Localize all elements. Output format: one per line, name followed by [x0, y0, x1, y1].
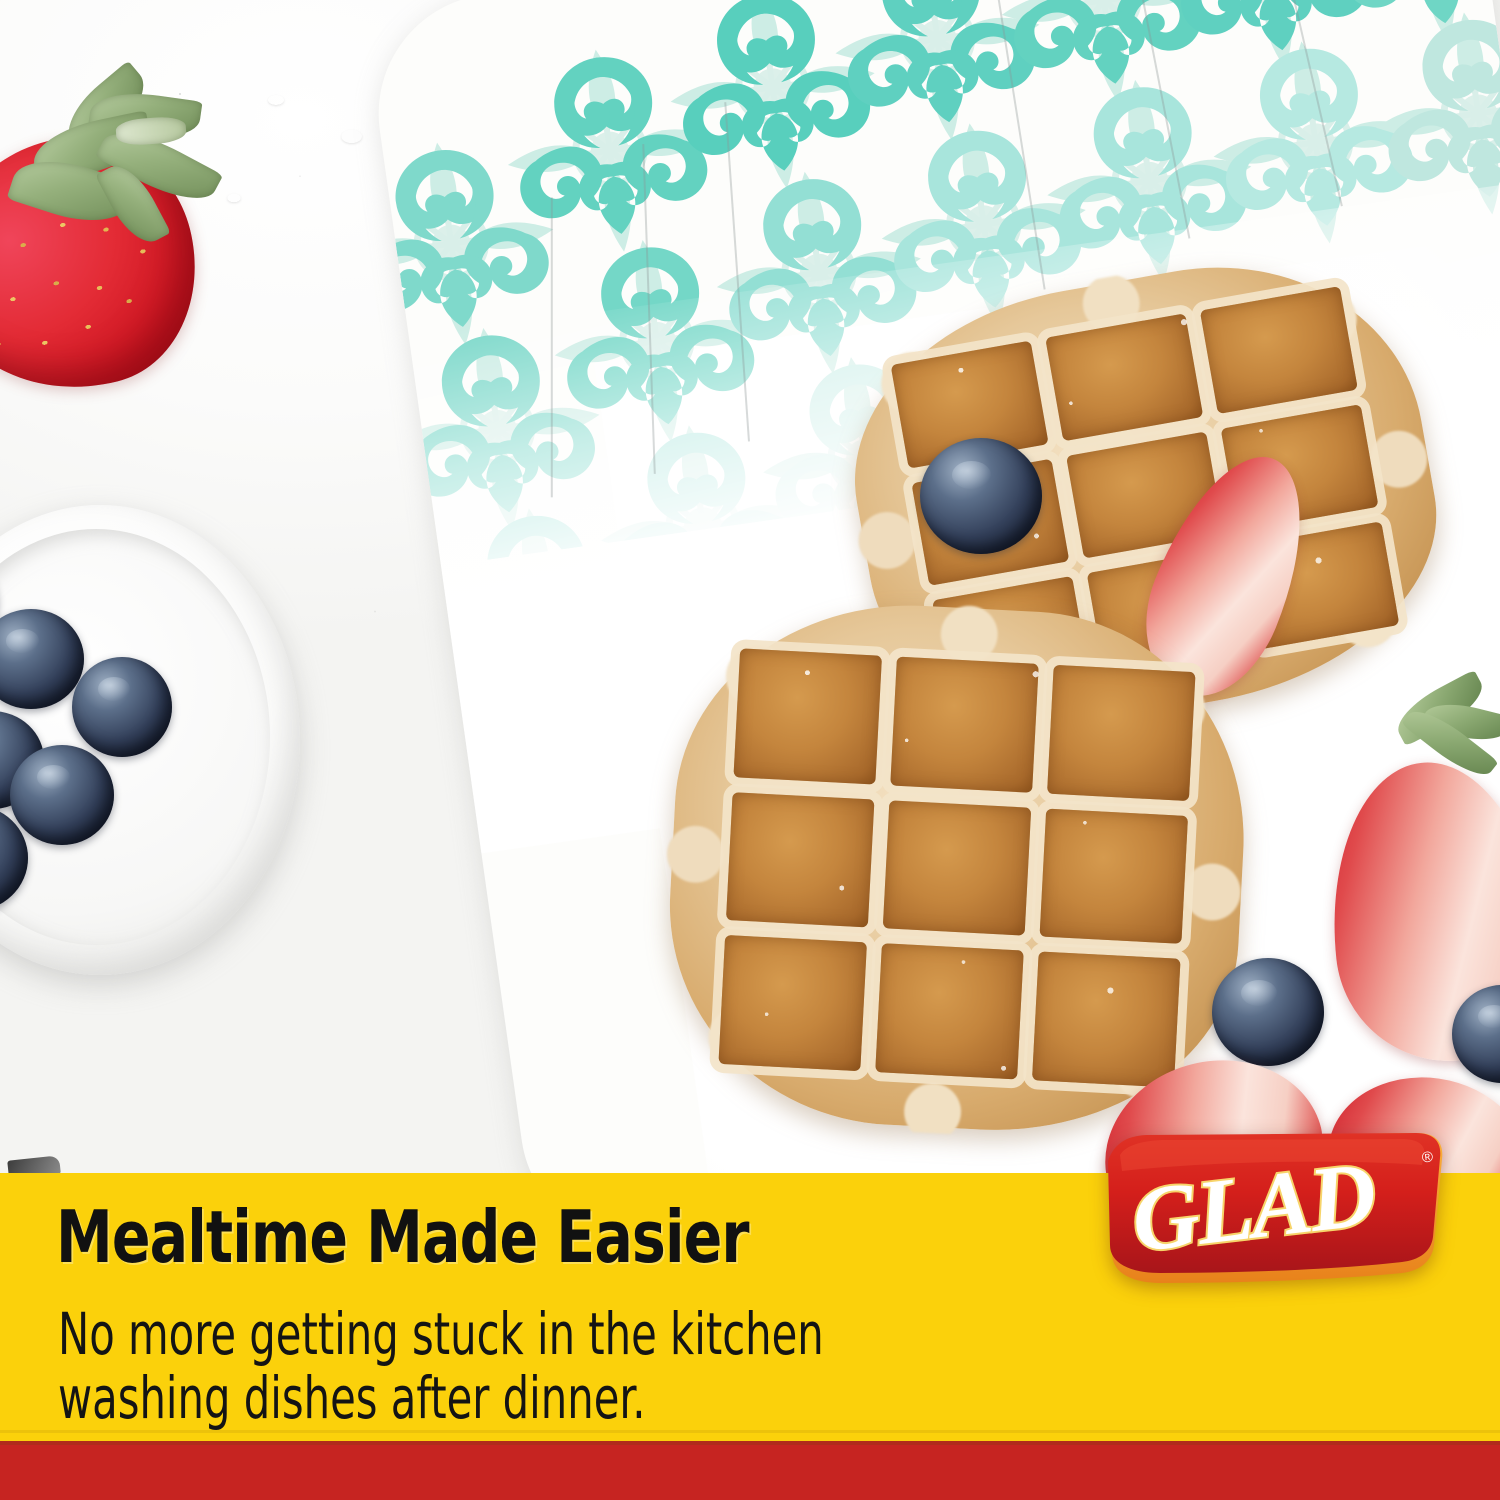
footer-bar	[0, 1441, 1500, 1500]
hero-photo	[0, 0, 1500, 1176]
blueberry	[10, 745, 114, 845]
glad-logo: GLAD ®	[1102, 1133, 1447, 1285]
plate-crease	[551, 197, 553, 497]
headline: Mealtime Made Easier	[56, 1199, 980, 1275]
subheadline: No more getting stuck in the kitchen was…	[58, 1302, 906, 1430]
bowl-of-blueberries	[0, 505, 320, 985]
blueberry	[72, 657, 172, 757]
waffle-sugar	[659, 593, 1255, 1142]
waffle-lower	[659, 593, 1255, 1142]
glad-product-ad: Mealtime Made Easier No more getting stu…	[0, 0, 1500, 1500]
blueberry-garnish	[920, 438, 1042, 554]
footer-top-edge	[0, 1441, 1500, 1445]
strawberry-whole	[0, 60, 270, 390]
registered-trademark-symbol: ®	[1421, 1148, 1434, 1166]
subheadline-line-2: washing dishes after dinner.	[58, 1366, 906, 1430]
subheadline-line-1: No more getting stuck in the kitchen	[58, 1302, 906, 1366]
